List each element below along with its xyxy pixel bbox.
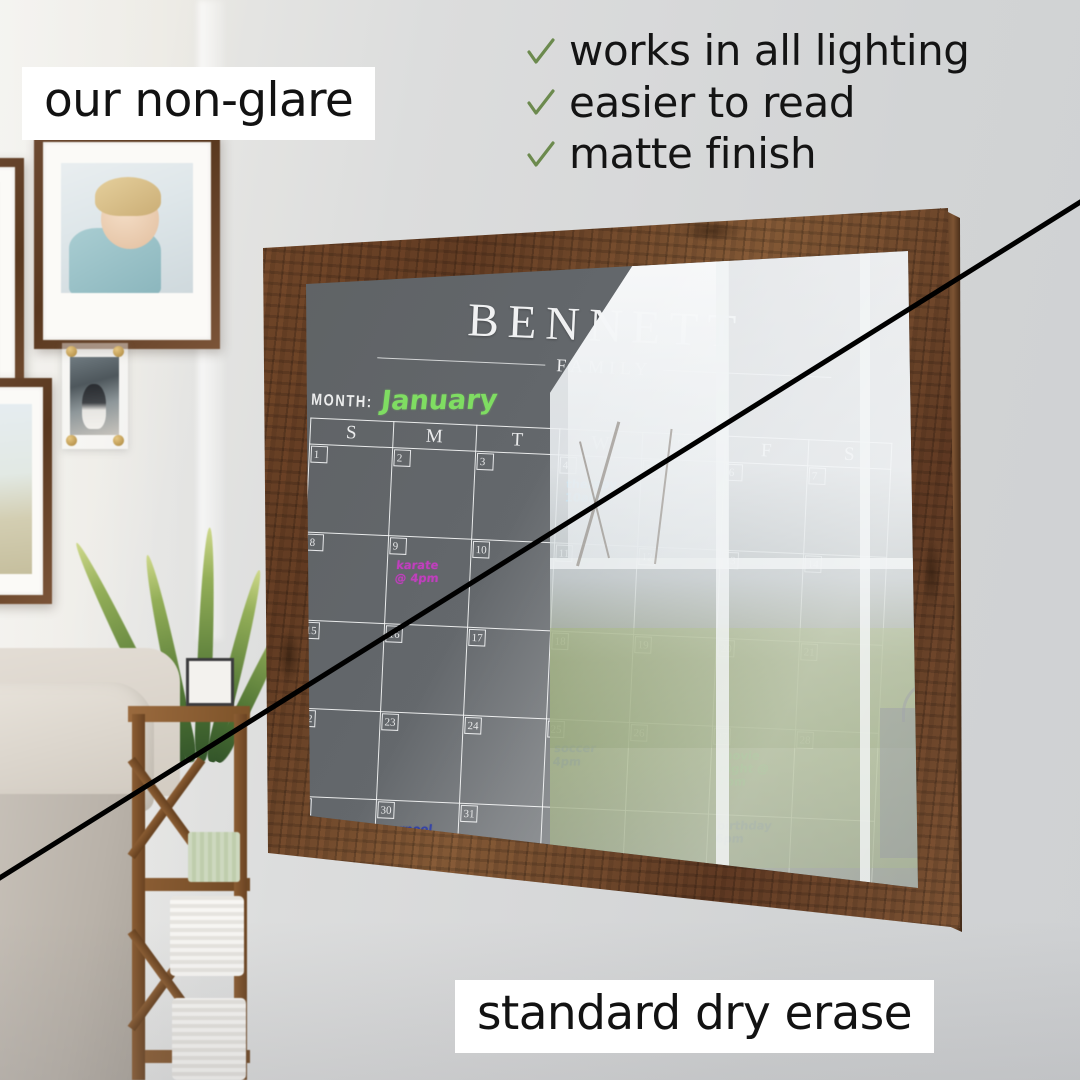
day-number: 26 <box>630 724 648 742</box>
wood-knot <box>922 538 942 608</box>
acrylic-floating-frame <box>62 343 128 449</box>
baby-hair <box>95 177 161 216</box>
check-icon <box>527 34 555 68</box>
calendar-weekday-5: F <box>725 436 809 466</box>
handwritten-event[interactable]: therapy10am <box>564 478 636 504</box>
benefit-item-0: works in all lighting <box>527 26 1075 76</box>
handwritten-event[interactable]: movienight @ 7pm <box>717 749 790 788</box>
calendar-weekday-3: W <box>559 429 643 459</box>
calendar-day-cell[interactable]: 18 <box>547 631 634 723</box>
handwritten-event[interactable]: karate@ 4pm <box>394 559 466 585</box>
calendar-day-cell[interactable]: 13 <box>717 550 804 642</box>
calendar-day-cell[interactable]: 11 <box>551 543 638 635</box>
calendar-day-cell[interactable]: 12 <box>634 546 721 638</box>
brass-standoff-icon <box>66 346 77 357</box>
calendar-day-cell[interactable]: 23 <box>376 712 463 804</box>
month-label: MONTH: <box>311 390 373 411</box>
calendar-day-cell[interactable]: 4therapy10am <box>555 455 642 547</box>
calendar-day-cell[interactable]: 5 <box>638 458 725 550</box>
day-number: 21 <box>800 643 818 661</box>
tabletop-photo-frame <box>186 658 234 706</box>
calendar-weekday-0: S <box>310 418 394 448</box>
day-number: 2 <box>393 449 411 467</box>
day-number: 12 <box>638 548 656 566</box>
day-number: 8 <box>306 534 324 552</box>
day-number: 28 <box>796 731 814 749</box>
day-number: 17 <box>468 629 486 647</box>
calendar-day-cell[interactable]: 1 <box>306 444 393 536</box>
wood-knot <box>278 628 300 684</box>
family-subtitle: FAMILY <box>556 355 653 380</box>
day-number: 14 <box>804 555 822 573</box>
day-number: 18 <box>551 632 569 650</box>
day-number: 6 <box>725 464 743 482</box>
day-number: 4 <box>559 456 577 474</box>
day-number: 13 <box>721 552 739 570</box>
dry-erase-calendar-board: BENNETT FAMILY MONTH: January SMTWTFS 12… <box>250 208 960 978</box>
day-number: 5 <box>642 460 660 478</box>
calendar-day-cell[interactable]: 14 <box>800 554 887 646</box>
handwritten-event[interactable]: birthday6pm <box>715 819 787 845</box>
benefit-item-1: easier to read <box>527 78 1075 128</box>
calendar-day-cell[interactable]: 25soccer4pm <box>542 719 629 811</box>
day-number: 31 <box>460 805 478 823</box>
rule-right <box>663 369 831 378</box>
table-top-surface <box>128 706 250 722</box>
calendar-weekday-1: M <box>393 422 477 452</box>
calendar-day-cell[interactable]: 7 <box>804 466 891 558</box>
calendar-day-cell[interactable]: 16 <box>381 624 468 716</box>
wood-knot <box>680 220 742 242</box>
day-number: 24 <box>464 717 482 735</box>
benefit-label: easier to read <box>569 78 855 128</box>
benefit-label: matte finish <box>569 129 816 179</box>
calendar-day-cell[interactable]: 15 <box>298 620 385 712</box>
landscape-artwork <box>0 404 32 574</box>
day-number: 3 <box>476 453 494 471</box>
calendar-day-cell[interactable]: 10 <box>468 539 555 631</box>
brass-standoff-icon <box>113 346 124 357</box>
calendar-day-cell[interactable]: 26 <box>625 722 712 814</box>
headline-banner-standard: standard dry erase <box>455 980 934 1053</box>
month-value-handwritten[interactable]: January <box>379 385 499 417</box>
day-number: 11 <box>555 544 573 562</box>
calendar-weekday-2: T <box>476 425 560 455</box>
handwritten-event[interactable]: soccer4pm <box>552 742 624 768</box>
green-storage-box <box>188 832 240 882</box>
check-icon <box>527 85 555 119</box>
day-number: 25 <box>547 720 565 738</box>
day-number: 23 <box>381 713 399 731</box>
calendar-day-cell[interactable]: 2 <box>389 448 476 540</box>
day-number: 7 <box>808 467 826 485</box>
calendar-day-cell[interactable]: 8 <box>302 532 389 624</box>
calendar-day-cell[interactable]: 28 <box>791 730 878 822</box>
gallery-frame-baby-portrait <box>34 133 220 349</box>
day-number: 1 <box>310 446 328 464</box>
day-number: 10 <box>472 541 490 559</box>
calendar-day-cell[interactable]: 27movienight @ 7pm <box>708 726 795 818</box>
day-number: 9 <box>389 537 407 555</box>
baby-portrait-photo <box>61 163 193 293</box>
gallery-frame-landscape <box>0 378 52 604</box>
brass-standoff-icon <box>66 435 77 446</box>
promo-image: BENNETT FAMILY MONTH: January SMTWTFS 12… <box>0 0 1080 1080</box>
wedding-photo <box>70 357 119 435</box>
benefits-list: works in all lightingeasier to readmatte… <box>527 26 1075 181</box>
day-number: 20 <box>717 640 735 658</box>
board-printed-layout: BENNETT FAMILY MONTH: January SMTWTFS 12… <box>277 252 912 918</box>
calendar-day-cell[interactable]: 21 <box>796 642 883 734</box>
headline-standard-text: standard dry erase <box>477 986 912 1041</box>
headline-non-glare-text: our non-glare <box>44 73 353 128</box>
couple-silhouette <box>82 384 107 429</box>
check-icon <box>527 137 555 171</box>
day-number: 30 <box>377 801 395 819</box>
calendar-day-cell[interactable]: 17 <box>464 627 551 719</box>
day-number: 19 <box>634 636 652 654</box>
headline-banner-non-glare: our non-glare <box>22 67 375 140</box>
calendar-day-cell[interactable]: 9karate@ 4pm <box>385 536 472 628</box>
calendar-day-cell[interactable]: 20 <box>713 638 800 730</box>
day-number: 27 <box>713 728 731 746</box>
calendar-day-cell[interactable]: 19 <box>630 634 717 726</box>
calendar-weekday-6: S <box>808 440 892 470</box>
calendar-day-cell[interactable]: 3 <box>472 451 559 543</box>
benefit-item-2: matte finish <box>527 129 1075 179</box>
day-number: 16 <box>385 625 403 643</box>
calendar-weekday-4: T <box>642 432 726 462</box>
benefit-label: works in all lighting <box>569 26 970 76</box>
rule-left <box>377 357 545 366</box>
calendar-day-cell[interactable]: 6 <box>721 462 808 554</box>
brass-standoff-icon <box>113 435 124 446</box>
calendar-day-cell[interactable]: 24 <box>459 715 546 807</box>
